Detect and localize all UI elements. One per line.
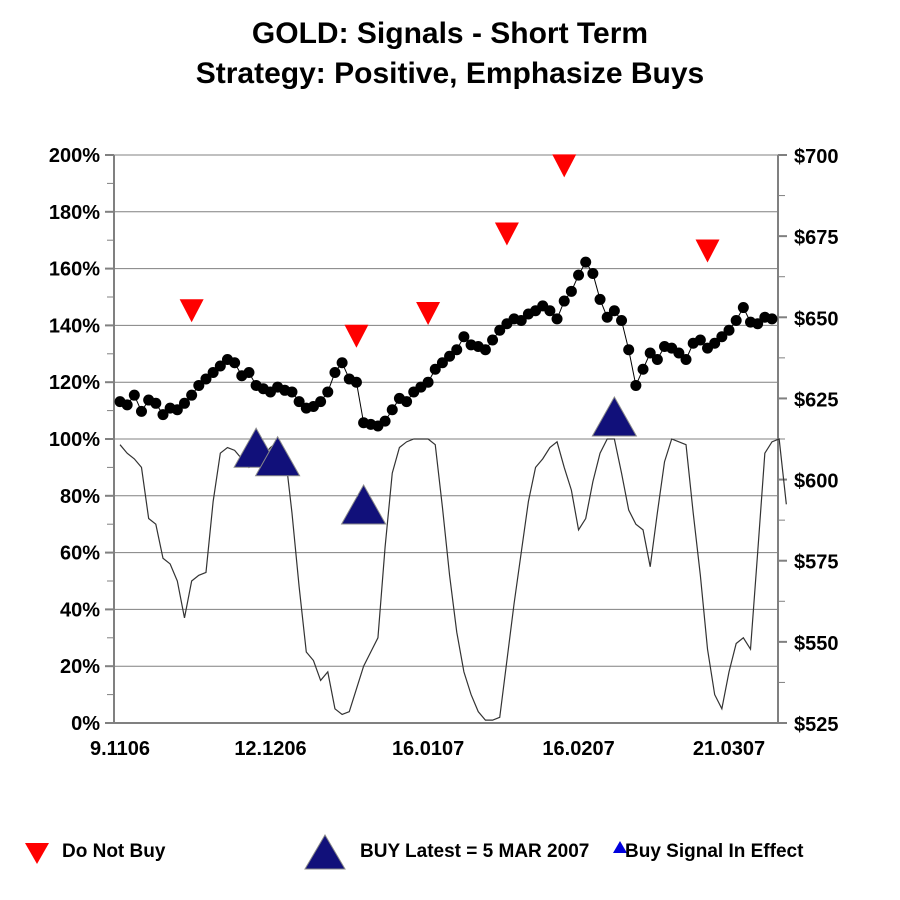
- left-axis-tick-label: 60%: [60, 543, 100, 565]
- price-marker: [595, 294, 606, 305]
- price-marker: [315, 396, 326, 407]
- x-axis-tick-label: 21.0307: [693, 738, 765, 760]
- price-marker: [638, 364, 649, 375]
- price-marker: [681, 354, 692, 365]
- price-marker: [724, 325, 735, 336]
- price-marker: [731, 315, 742, 326]
- left-axis-tick-label: 120%: [49, 372, 100, 394]
- price-marker: [767, 313, 778, 324]
- price-marker: [652, 354, 663, 365]
- price-marker: [136, 406, 147, 417]
- price-marker: [322, 386, 333, 397]
- legend-do-not-buy-label: Do Not Buy: [62, 842, 165, 862]
- price-marker: [451, 344, 462, 355]
- price-marker: [573, 270, 584, 281]
- right-axis-tick-label: $550: [794, 633, 839, 655]
- right-axis-tick-label: $575: [794, 552, 839, 574]
- price-marker: [380, 416, 391, 427]
- price-marker: [351, 377, 362, 388]
- price-marker: [387, 404, 398, 415]
- price-marker: [229, 357, 240, 368]
- price-marker: [480, 344, 491, 355]
- price-marker: [186, 390, 197, 401]
- price-marker: [738, 302, 749, 313]
- price-marker: [286, 386, 297, 397]
- left-axis-tick-label: 0%: [71, 713, 100, 735]
- price-marker: [609, 305, 620, 316]
- x-axis-tick-label: 16.0107: [392, 738, 464, 760]
- right-axis-tick-label: $675: [794, 227, 839, 249]
- left-axis-tick-label: 160%: [49, 259, 100, 281]
- price-marker: [337, 357, 348, 368]
- buy-signal-icon: [303, 832, 347, 872]
- left-axis-tick-label: 180%: [49, 202, 100, 224]
- left-axis-tick-label: 100%: [49, 429, 100, 451]
- price-marker: [401, 396, 412, 407]
- price-marker: [129, 390, 140, 401]
- price-marker: [150, 398, 161, 409]
- price-marker: [122, 399, 133, 410]
- price-marker: [566, 286, 577, 297]
- left-axis-tick-label: 200%: [49, 145, 100, 167]
- price-marker: [580, 257, 591, 268]
- left-axis-tick-label: 80%: [60, 486, 100, 508]
- x-axis-tick-label: 9.1106: [90, 738, 150, 760]
- price-marker: [587, 268, 598, 279]
- right-axis-tick-label: $600: [794, 471, 839, 493]
- right-axis-tick-label: $625: [794, 389, 839, 411]
- price-marker: [329, 367, 340, 378]
- price-marker: [616, 315, 627, 326]
- chart-plot: 0%20%40%60%80%100%120%140%160%180%200%$5…: [0, 0, 900, 900]
- x-axis-tick-label: 12.1206: [234, 738, 306, 760]
- price-marker: [630, 380, 641, 391]
- legend-buy-latest-label: BUY Latest = 5 MAR 2007: [360, 842, 589, 862]
- right-axis-tick-label: $700: [794, 146, 839, 168]
- price-marker: [623, 344, 634, 355]
- price-marker: [487, 335, 498, 346]
- price-marker: [243, 367, 254, 378]
- price-marker: [552, 313, 563, 324]
- right-axis-tick-label: $525: [794, 714, 839, 736]
- x-axis-tick-label: 16.0207: [542, 738, 614, 760]
- left-axis-tick-label: 140%: [49, 315, 100, 337]
- left-axis-tick-label: 20%: [60, 656, 100, 678]
- chart-legend: Do Not Buy BUY Latest = 5 MAR 2007 Buy S…: [0, 820, 900, 880]
- price-marker: [423, 377, 434, 388]
- right-axis-tick-label: $650: [794, 308, 839, 330]
- price-marker: [559, 296, 570, 307]
- left-axis-tick-label: 40%: [60, 599, 100, 621]
- legend-buy-signal-label: Buy Signal In Effect: [625, 842, 803, 862]
- do-not-buy-icon: [22, 840, 52, 866]
